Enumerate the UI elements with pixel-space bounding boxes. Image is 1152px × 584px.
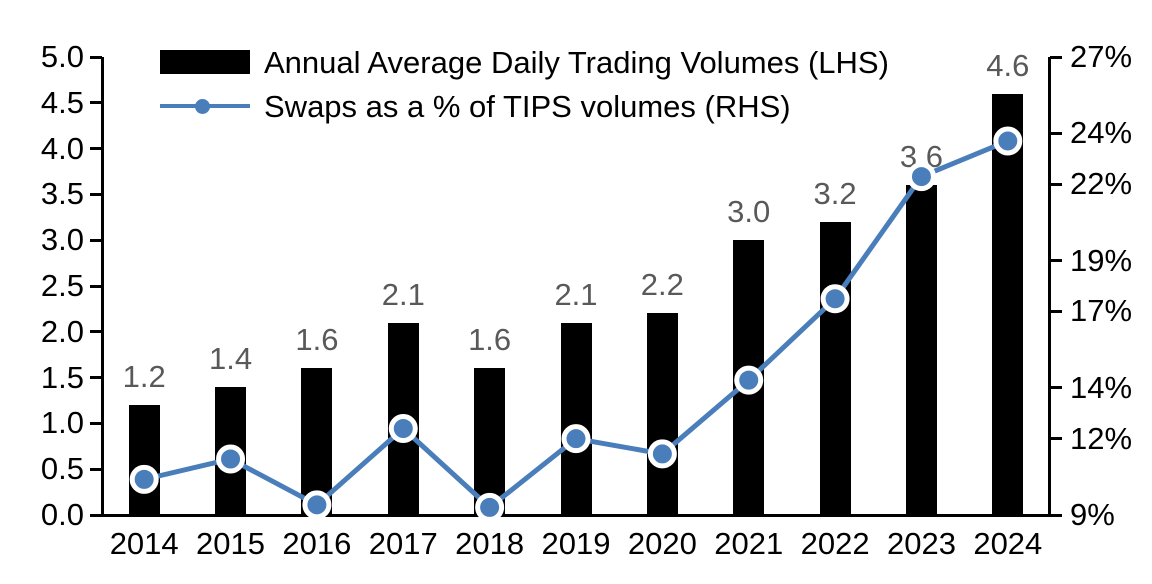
legend-line-swatch-icon	[160, 94, 250, 118]
x-axis-tick-label: 2022	[801, 528, 870, 559]
y-right-tick	[1050, 259, 1062, 262]
x-axis-tick-label: 2016	[282, 528, 351, 559]
x-axis-tick-label: 2017	[369, 528, 438, 559]
y-right-tick-label: 22%	[1070, 168, 1132, 199]
chart-legend: Annual Average Daily Trading Volumes (LH…	[160, 40, 889, 128]
x-axis-tick-label: 2020	[628, 528, 697, 559]
line-marker	[650, 442, 674, 466]
y-right-tick	[1050, 183, 1062, 186]
y-left-tick-label: 2.0	[41, 316, 84, 347]
line-marker	[909, 165, 933, 189]
line-marker	[823, 287, 847, 311]
line-marker	[478, 495, 502, 519]
y-right-tick-label: 27%	[1070, 41, 1132, 72]
line-marker	[305, 493, 329, 517]
y-right-tick-label: 12%	[1070, 423, 1132, 454]
x-axis-tick-label: 2019	[542, 528, 611, 559]
y-left-tick-label: 2.5	[41, 270, 84, 301]
y-left-tick-label: 4.5	[41, 87, 84, 118]
y-right-tick	[1050, 56, 1062, 59]
line-marker	[391, 416, 415, 440]
line-markers	[132, 129, 1020, 519]
y-right-tick	[1050, 132, 1062, 135]
y-left-tick-label: 0.0	[41, 499, 84, 530]
line-marker	[996, 129, 1020, 153]
x-axis-tick-label: 2015	[196, 528, 265, 559]
line-marker	[564, 427, 588, 451]
line-marker	[737, 368, 761, 392]
y-right-tick	[1050, 386, 1062, 389]
y-right-tick-label: 14%	[1070, 372, 1132, 403]
y-right-tick-label: 19%	[1070, 245, 1132, 276]
y-left-tick-label: 3.0	[41, 224, 84, 255]
legend-bar-swatch-icon	[160, 50, 250, 74]
y-left-tick-label: 5.0	[41, 41, 84, 72]
y-left-tick-label: 3.5	[41, 178, 84, 209]
x-axis-tick-label: 2018	[455, 528, 524, 559]
legend-label-bars: Annual Average Daily Trading Volumes (LH…	[264, 47, 889, 78]
y-right-tick-label: 17%	[1070, 295, 1132, 326]
x-axis-tick-label: 2021	[714, 528, 783, 559]
x-axis-tick-label: 2014	[110, 528, 179, 559]
legend-label-line: Swaps as a % of TIPS volumes (RHS)	[264, 91, 791, 122]
line-marker	[132, 467, 156, 491]
y-left-tick-label: 4.0	[41, 133, 84, 164]
legend-item-line: Swaps as a % of TIPS volumes (RHS)	[160, 84, 889, 128]
x-axis-tick-label: 2024	[973, 528, 1042, 559]
line-marker	[219, 447, 243, 471]
y-left-tick-label: 1.0	[41, 407, 84, 438]
x-axis-tick-label: 2023	[887, 528, 956, 559]
y-right-tick-label: 9%	[1070, 499, 1115, 530]
chart-figure: 0.00.51.01.52.02.53.03.54.04.55.0 9%12%1…	[0, 0, 1152, 584]
y-right-tick	[1050, 437, 1062, 440]
y-right-tick-label: 24%	[1070, 117, 1132, 148]
legend-item-bars: Annual Average Daily Trading Volumes (LH…	[160, 40, 889, 84]
y-right-tick	[1050, 310, 1062, 313]
y-left-tick-label: 0.5	[41, 453, 84, 484]
y-left-tick-label: 1.5	[41, 362, 84, 393]
y-right-tick	[1050, 514, 1062, 517]
